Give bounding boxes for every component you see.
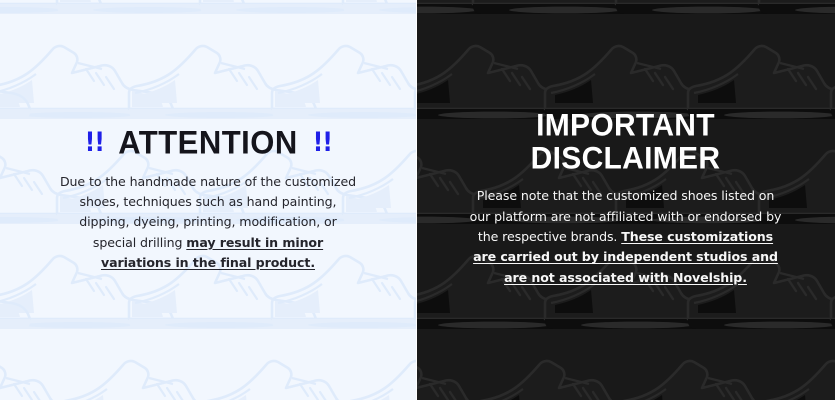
disclaimer-heading-line1: IMPORTANT xyxy=(531,110,721,142)
attention-content: !! ATTENTION !! Due to the handmade natu… xyxy=(0,0,416,400)
exclamation-left-icon: !! xyxy=(84,129,103,156)
exclamation-right-icon: !! xyxy=(312,129,331,156)
attention-body: Due to the handmade nature of the custom… xyxy=(58,172,358,274)
attention-heading: !! ATTENTION !! xyxy=(83,127,334,158)
disclaimer-banner: !! ATTENTION !! Due to the handmade natu… xyxy=(0,0,835,400)
attention-heading-text: ATTENTION xyxy=(118,126,298,159)
disclaimer-heading-line2: DISCLAIMER xyxy=(531,143,721,175)
disclaimer-heading: IMPORTANT DISCLAIMER xyxy=(531,110,721,175)
attention-panel: !! ATTENTION !! Due to the handmade natu… xyxy=(0,0,416,400)
disclaimer-panel: IMPORTANT DISCLAIMER Please note that th… xyxy=(416,0,835,400)
disclaimer-content: IMPORTANT DISCLAIMER Please note that th… xyxy=(416,0,835,400)
panel-divider xyxy=(416,0,417,400)
disclaimer-body: Please note that the customized shoes li… xyxy=(467,186,785,288)
